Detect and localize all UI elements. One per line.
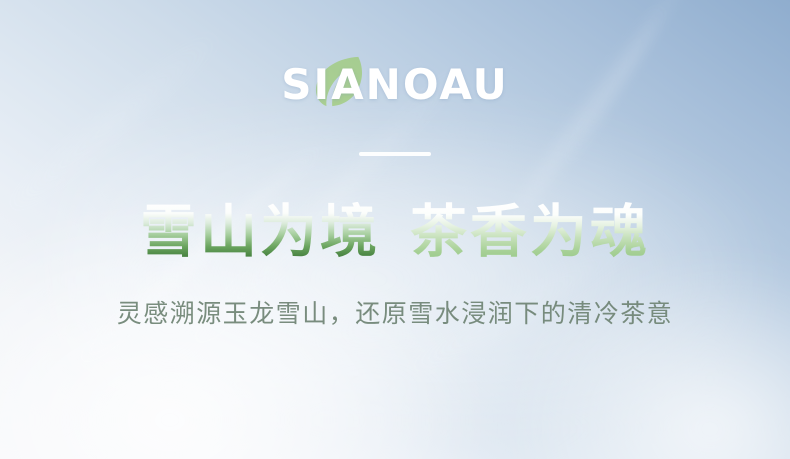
headline-segment-one: 雪山为境 [140, 202, 380, 264]
banner-content: SIANOAU 雪山为境 茶香为魂 灵感溯源玉龙雪山，还原雪水浸润下的清冷茶意 [0, 0, 790, 459]
headline: 雪山为境 茶香为魂 [140, 202, 650, 264]
divider-rule [359, 152, 431, 156]
hero-banner: SIANOAU 雪山为境 茶香为魂 灵感溯源玉龙雪山，还原雪水浸润下的清冷茶意 [0, 0, 790, 459]
subtitle: 灵感溯源玉龙雪山，还原雪水浸润下的清冷茶意 [117, 294, 674, 330]
brand-logo-text: SIANOAU [281, 64, 508, 106]
headline-segment-two: 茶香为魂 [410, 202, 650, 264]
brand-logo: SIANOAU [281, 58, 508, 112]
